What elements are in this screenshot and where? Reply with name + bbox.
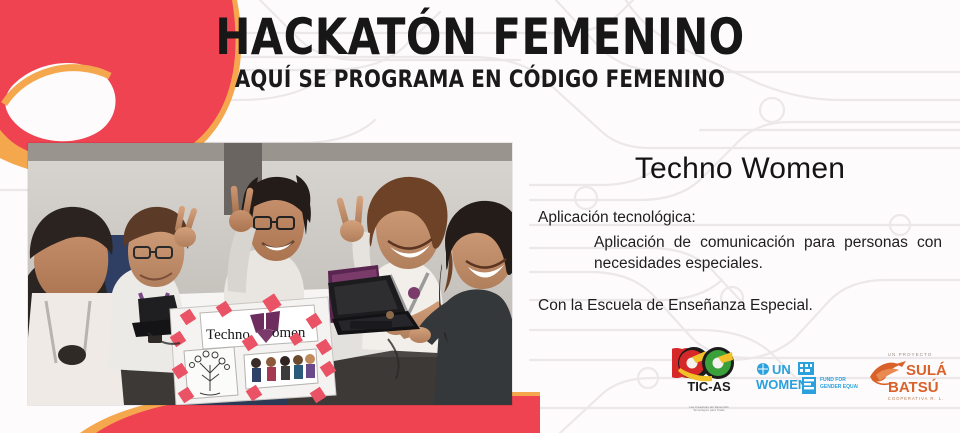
app-description: Aplicación de comunicación para personas… (594, 233, 942, 275)
logo-sula-batsu: UN PROYECTO SULÁ BATSÚ COOPERATIVA R. L. (866, 349, 954, 412)
app-label: Aplicación tecnológica: (538, 208, 942, 229)
tic-as-wordmark: TIC-AS (687, 379, 731, 394)
promotional-banner: HACKATÓN FEMENINO AQUÍ SE PROGRAMA EN CÓ… (0, 0, 960, 433)
project-info-panel: Techno Women Aplicación tecnológica: Apl… (538, 152, 942, 317)
page-title: HACKATÓN FEMENINO (34, 12, 927, 63)
partner-line: Con la Escuela de Enseñanza Especial. (538, 296, 942, 317)
un-women-line1: UN (772, 362, 791, 377)
logo-un-women: UN WOMEN FUND FOR (754, 361, 858, 412)
logo-tic-as: TIC-AS Las Creadoras del Desarrollo Tecn… (672, 343, 746, 412)
tic-as-mark (672, 347, 734, 381)
un-women-line2: WOMEN (756, 377, 807, 392)
sula-batsu-line2: BATSÚ (888, 378, 939, 396)
techno-women-poster: Techno omen (168, 291, 338, 405)
page-subtitle: AQUÍ SE PROGRAMA EN CÓDIGO FEMENINO (38, 65, 921, 93)
team-photo: Techno omen (28, 143, 512, 405)
sula-batsu-tagline: COOPERATIVA R. L. (888, 396, 944, 401)
un-women-tagline-line1: FUND FOR (820, 377, 846, 383)
title-block: HACKATÓN FEMENINO AQUÍ SE PROGRAMA EN CÓ… (0, 12, 960, 93)
tic-as-tagline-line2: Tecnológico para Todas (672, 409, 746, 412)
sula-batsu-pretext: UN PROYECTO (888, 352, 933, 357)
un-women-tagline-line2: GENDER EQUALITY (820, 384, 858, 390)
sponsor-logo-strip: TIC-AS Las Creadoras del Desarrollo Tecn… (672, 350, 956, 412)
project-name: Techno Women (538, 152, 942, 186)
sula-batsu-line1: SULÁ (906, 362, 947, 379)
